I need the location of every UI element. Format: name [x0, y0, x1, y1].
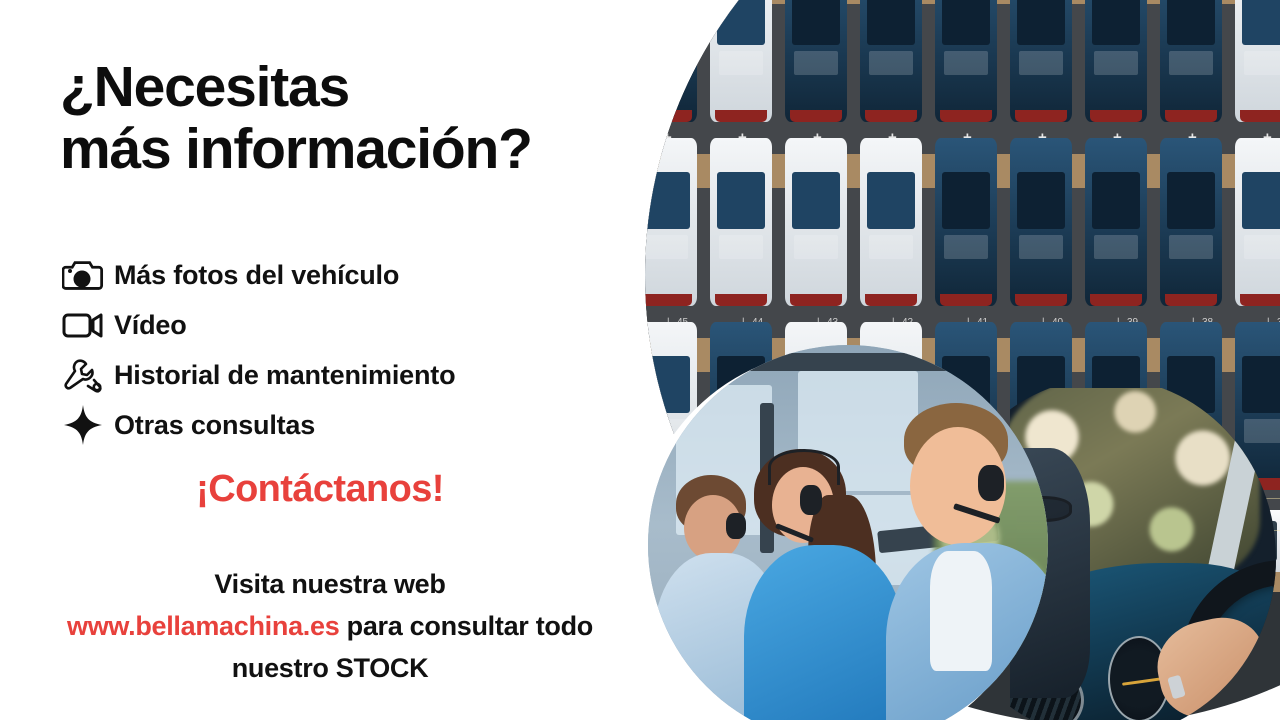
car-taillights [715, 294, 767, 306]
car-roof [1167, 0, 1214, 45]
car-roof [867, 0, 914, 45]
car-roof [1092, 0, 1139, 45]
car-windshield [794, 235, 839, 259]
list-item: Otras consultas [52, 400, 612, 450]
car-taillights [790, 110, 842, 122]
parked-car [785, 138, 847, 306]
call-center-team-photo [648, 345, 1048, 720]
car-windshield [1169, 51, 1214, 75]
list-item: Historial de mantenimiento [52, 350, 612, 400]
car-taillights [940, 294, 992, 306]
car-windshield [1094, 235, 1139, 259]
car-taillights [1165, 294, 1217, 306]
car-taillights [1165, 110, 1217, 122]
car-windshield [719, 51, 764, 75]
headset-earpiece [800, 485, 822, 515]
car-taillights [1240, 294, 1280, 306]
website-block: Visita nuestra web www.bellamachina.es p… [0, 563, 660, 689]
car-roof [717, 172, 764, 229]
contact-cta-label: ¡Contáctanos! [196, 468, 444, 510]
car-roof [792, 0, 839, 45]
parked-car [1010, 0, 1072, 122]
car-taillights [865, 294, 917, 306]
camera-icon [52, 258, 114, 292]
parked-car [860, 0, 922, 122]
car-roof [717, 0, 764, 45]
car-roof [1242, 172, 1280, 229]
car-roof [1017, 0, 1064, 45]
page-title: ¿Necesitas más información? [60, 56, 532, 180]
headset-band [768, 449, 840, 485]
parked-car [645, 138, 697, 306]
car-windshield [1244, 235, 1280, 259]
car-taillights [1015, 110, 1067, 122]
car-windshield [645, 51, 688, 75]
parked-car [785, 0, 847, 122]
car-windshield [1094, 51, 1139, 75]
car-windshield [1019, 51, 1064, 75]
car-roof [645, 172, 690, 229]
car-taillights [1015, 294, 1067, 306]
car-windshield [1244, 419, 1280, 443]
gauge-needle [1122, 677, 1162, 686]
parked-car [1235, 138, 1280, 306]
website-url[interactable]: www.bellamachina.es [67, 611, 339, 641]
parked-car [710, 0, 772, 122]
car-windshield [794, 51, 839, 75]
benefits-list: Más fotos del vehículo Vídeo [52, 250, 612, 450]
car-roof [1017, 172, 1064, 229]
list-item: Más fotos del vehículo [52, 250, 612, 300]
car-windshield [869, 51, 914, 75]
car-roof [645, 0, 690, 45]
parked-car [1160, 138, 1222, 306]
car-roof [792, 172, 839, 229]
car-roof [942, 0, 989, 45]
car-taillights [645, 110, 692, 122]
car-windshield [719, 235, 764, 259]
car-windshield [1244, 51, 1280, 75]
parked-car [935, 138, 997, 306]
headset-earpiece [978, 465, 1004, 501]
car-roof [867, 172, 914, 229]
tools-icon [52, 356, 114, 394]
poster-canvas: +++++++++++++⊥45⊥44⊥43⊥42⊥41⊥40⊥39⊥38⊥37… [0, 0, 1280, 720]
car-windshield [1169, 235, 1214, 259]
car-taillights [790, 294, 842, 306]
list-item-label: Otras consultas [114, 410, 315, 441]
list-item-label: Más fotos del vehículo [114, 260, 399, 291]
parked-car [710, 138, 772, 306]
video-icon [52, 309, 114, 341]
car-taillights [1240, 110, 1280, 122]
parked-car [935, 0, 997, 122]
car-windshield [1019, 235, 1064, 259]
car-roof [1242, 0, 1280, 45]
parked-car [1085, 0, 1147, 122]
headset-earpiece [726, 513, 746, 539]
parked-car [645, 0, 697, 122]
car-windshield [869, 235, 914, 259]
contact-cta[interactable]: ¡Contáctanos! [0, 468, 640, 511]
parked-car [1160, 0, 1222, 122]
website-line2: www.bellamachina.es para consultar todo [0, 605, 660, 647]
car-windshield [944, 235, 989, 259]
list-item-label: Historial de mantenimiento [114, 360, 455, 391]
car-taillights [1090, 294, 1142, 306]
sparkle-icon [52, 405, 114, 445]
parked-car [860, 138, 922, 306]
car-taillights [715, 110, 767, 122]
car-windshield [645, 235, 688, 259]
parked-car [1235, 0, 1280, 122]
website-line2-rest: para consultar todo [339, 611, 593, 641]
car-taillights [865, 110, 917, 122]
car-taillights [1090, 110, 1142, 122]
car-taillights [645, 294, 692, 306]
list-item-label: Vídeo [114, 310, 187, 341]
parked-car [1010, 138, 1072, 306]
car-windshield [944, 51, 989, 75]
shirt-collar [930, 551, 992, 671]
parked-car [1085, 138, 1147, 306]
website-line1: Visita nuestra web [0, 563, 660, 605]
website-line3: nuestro STOCK [0, 647, 660, 689]
car-roof [1167, 172, 1214, 229]
car-taillights [940, 110, 992, 122]
car-roof [1092, 172, 1139, 229]
car-roof [1242, 356, 1280, 413]
list-item: Vídeo [52, 300, 612, 350]
car-roof [942, 172, 989, 229]
ceiling-beam [648, 353, 948, 371]
